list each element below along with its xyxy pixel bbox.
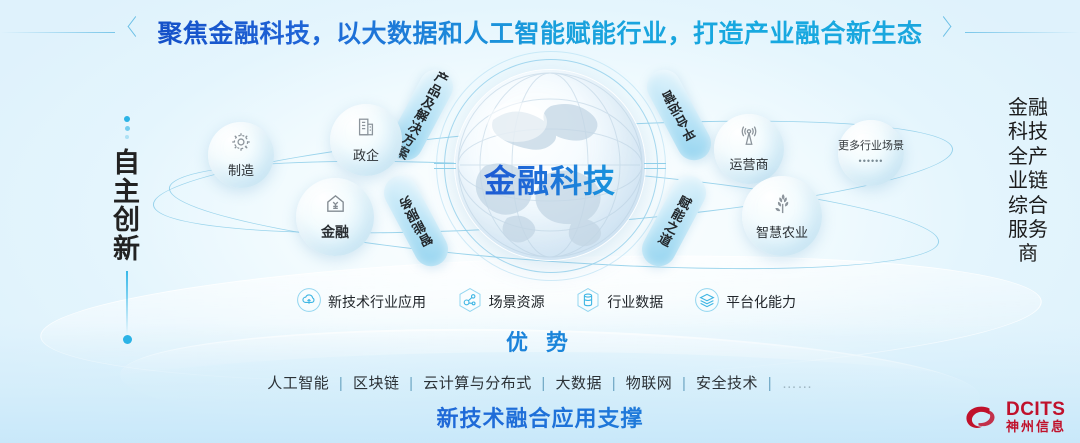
logo-text-en: DCITS — [1006, 399, 1066, 420]
chevron-right-icon — [937, 17, 952, 47]
advantage-label: 新技术行业应用 — [328, 292, 426, 312]
bubble-label: 更多行业场景 — [838, 140, 904, 154]
ellipsis-dots: •••••• — [859, 156, 884, 166]
bubble-label: 智慧农业 — [756, 222, 808, 241]
left-vertical-label: 自主创新 — [104, 116, 150, 344]
technology-item: 物联网 — [626, 375, 673, 392]
header-rule-right — [965, 32, 1080, 33]
building-icon — [355, 116, 377, 143]
arc-tick-left — [434, 163, 456, 169]
technology-item: 人工智能 — [267, 375, 329, 392]
advantage-item-new-tech[interactable]: 新技术行业应用 — [296, 287, 426, 318]
dcits-mark-icon — [965, 404, 999, 432]
footer-title: 新技术融合应用支撑 — [0, 401, 1080, 433]
technology-item: 区块链 — [353, 375, 400, 392]
advantage-label: 平台化能力 — [726, 292, 796, 312]
separator: | — [409, 375, 413, 392]
advantage-label: 场景资源 — [489, 292, 545, 312]
logo-text-cn: 神州信息 — [1006, 419, 1066, 434]
header: 聚焦金融科技，以大数据和人工智能赋能行业，打造产业融合新生态 — [0, 6, 1080, 58]
separator: | — [541, 375, 545, 392]
bubble-government-enterprise[interactable]: 政企 — [330, 104, 402, 176]
separator: | — [682, 375, 686, 392]
bubble-finance[interactable]: 金融 — [296, 178, 374, 256]
advantage-item-platform-capability[interactable]: 平台化能力 — [694, 287, 796, 318]
bubble-label: 运营商 — [729, 154, 768, 173]
dots-decoration — [104, 116, 150, 139]
page-title: 聚焦金融科技，以大数据和人工智能赋能行业，打造产业融合新生态 — [158, 14, 923, 50]
wheat-icon — [771, 192, 794, 220]
layers-icon — [694, 287, 720, 318]
logo-text: DCITS 神州信息 — [1006, 400, 1066, 435]
antenna-icon — [738, 125, 760, 152]
bubble-smart-agriculture[interactable]: 智慧农业 — [742, 176, 822, 256]
bubble-label: 政企 — [353, 145, 379, 164]
bubble-manufacturing[interactable]: 制造 — [208, 122, 274, 188]
arc-tick-right — [644, 163, 666, 169]
bank-icon — [324, 192, 347, 220]
infographic-canvas: 聚焦金融科技，以大数据和人工智能赋能行业，打造产业融合新生态 自主创新 金融科技… — [0, 0, 1080, 443]
database-icon — [575, 287, 601, 318]
brand-logo: DCITS 神州信息 — [965, 400, 1066, 435]
core-globe: 金融科技 — [455, 70, 645, 260]
bubble-label: 金融 — [321, 222, 349, 242]
molecule-icon — [457, 287, 483, 318]
technology-item: 安全技术 — [696, 375, 758, 392]
technology-item: 云计算与分布式 — [423, 375, 532, 392]
advantages-row: 新技术行业应用 场景资源 — [296, 287, 796, 317]
right-vertical-text: 金融科技全产业链综合服务商 — [1008, 96, 1048, 267]
gear-icon — [230, 131, 252, 158]
left-vertical-text: 自主创新 — [104, 149, 150, 263]
bubble-carrier[interactable]: 运营商 — [714, 114, 784, 184]
technology-list: 人工智能 | 区块链 | 云计算与分布式 | 大数据 | 物联网 | 安全技术 … — [0, 372, 1080, 393]
separator: | — [768, 375, 772, 392]
technology-item: 大数据 — [556, 375, 603, 392]
advantage-item-scenario-resources[interactable]: 场景资源 — [457, 287, 545, 318]
header-rule-left — [0, 32, 115, 33]
bubble-more-scenarios[interactable]: 更多行业场景 •••••• — [838, 120, 904, 186]
separator: | — [612, 375, 616, 392]
bubble-label: 制造 — [228, 160, 254, 179]
advantage-item-industry-data[interactable]: 行业数据 — [575, 287, 663, 318]
advantages-title: 优 势 — [0, 325, 1080, 357]
separator: | — [339, 375, 343, 392]
chevron-left-icon — [129, 17, 144, 47]
core-label: 金融科技 — [455, 156, 645, 202]
advantage-label: 行业数据 — [607, 292, 663, 312]
right-vertical-label: 金融科技全产业链综合服务商 — [1008, 96, 1048, 267]
cloud-upload-icon — [296, 287, 322, 318]
technology-ellipsis: …… — [782, 375, 813, 392]
